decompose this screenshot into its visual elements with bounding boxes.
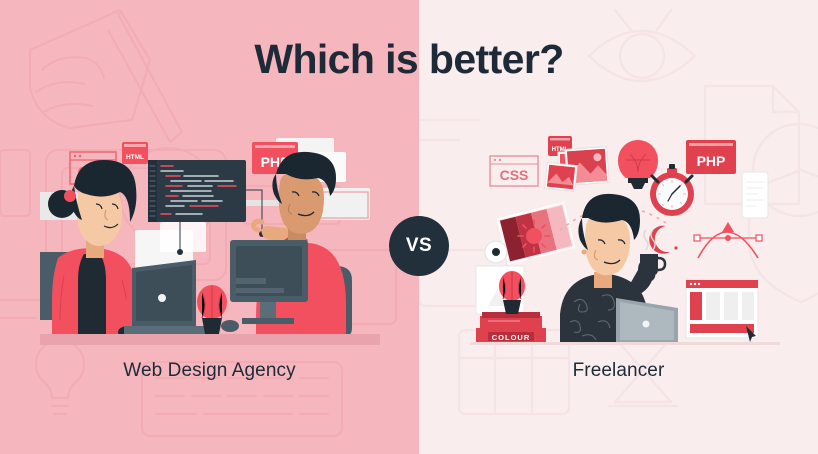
pen-tool-curve — [694, 222, 762, 258]
desk — [470, 342, 780, 345]
svg-text:HTML: HTML — [126, 154, 144, 161]
poster-canvas: Which is better? CSS — [0, 0, 818, 454]
right-panel-label: Freelancer — [419, 360, 818, 382]
browser-window-mockup — [686, 280, 758, 342]
svg-text:COLOUR: COLOUR — [492, 333, 531, 342]
html-tag: HTML — [122, 142, 148, 164]
php-tag: PHP — [686, 140, 736, 174]
laptop — [616, 298, 678, 344]
mouse — [221, 320, 239, 332]
lightbulb — [618, 140, 658, 189]
book-stack: COLOUR — [476, 312, 546, 344]
web-design-agency-illustration: CSS HTML PHP — [40, 130, 380, 345]
female-developer — [40, 160, 142, 342]
left-panel-label: Web Design Agency — [0, 360, 419, 382]
versus-label: VS — [406, 235, 432, 257]
sun-icon — [518, 220, 550, 252]
desk — [40, 334, 380, 345]
freelancer-illustration: CSS HTML — [470, 130, 780, 345]
versus-badge: VS — [389, 216, 449, 276]
laptop — [124, 260, 208, 334]
moon-dot — [674, 246, 677, 249]
phone-mockup — [742, 172, 768, 218]
svg-text:CSS: CSS — [500, 167, 529, 183]
page-title: Which is better? — [0, 36, 818, 83]
css-tag: CSS — [490, 156, 538, 186]
svg-text:PHP: PHP — [697, 153, 726, 169]
